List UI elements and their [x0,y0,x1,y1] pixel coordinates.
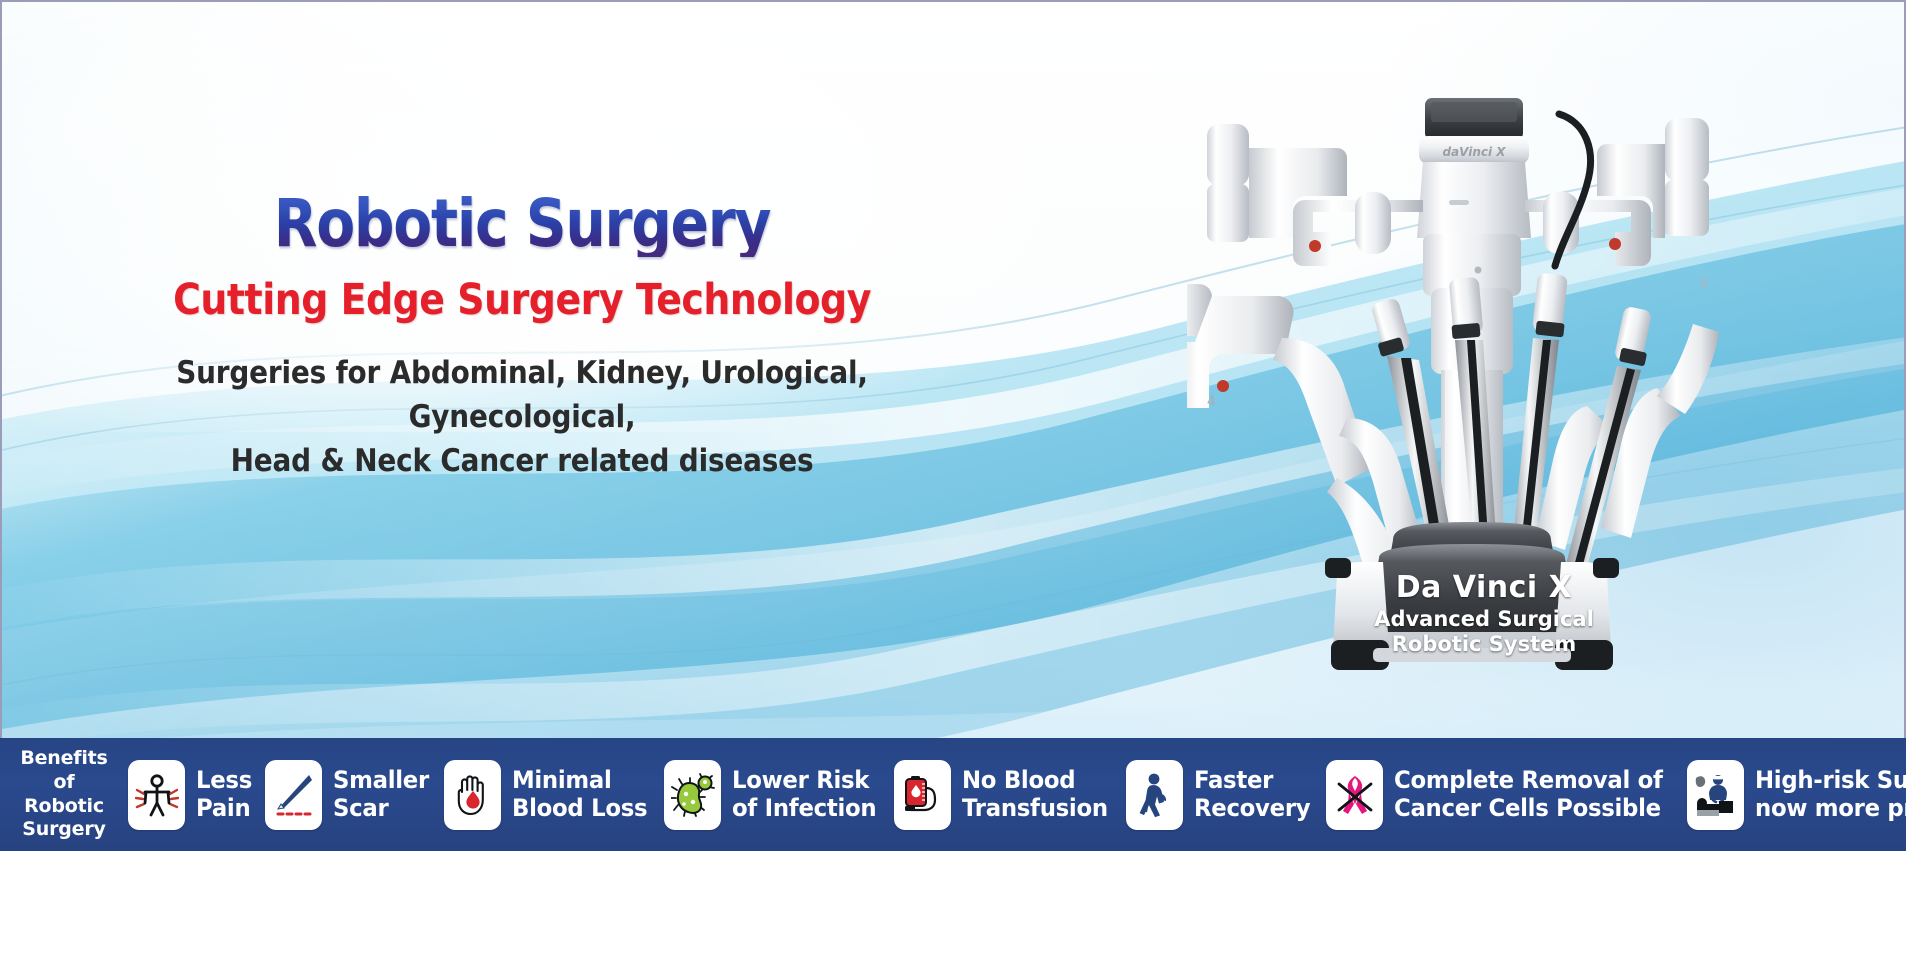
benefit-label: No Blood Transfusion [962,767,1108,822]
blood-bag-icon [901,772,945,818]
description-line-2: Head & Neck Cancer related diseases [153,439,891,483]
benefits-title-line-1: Benefits of [20,747,107,793]
benefit-item-less-pain[interactable]: Less Pain [128,760,255,830]
benefit-label: Smaller Scar [333,767,429,822]
benefit-label: Minimal Blood Loss [512,767,647,822]
benefit-label-line-1: Minimal [512,766,612,794]
benefits-bar: Benefits of Robotic Surgery [0,738,1906,851]
benefit-tile [1126,760,1183,830]
benefit-tile [894,760,951,830]
benefit-item-smaller-scar[interactable]: Smaller Scar [265,760,434,830]
person-pain-icon [135,772,179,818]
benefit-label: Complete Removal of Cancer Cells Possibl… [1394,767,1663,822]
benefit-label-line-2: Cancer Cells Possible [1394,795,1663,822]
benefit-tile [664,760,721,830]
benefit-item-lower-risk-infection[interactable]: Lower Risk of Infection [664,760,884,830]
benefit-label-line-2: Pain [196,795,252,822]
benefit-item-no-blood-transfusion[interactable]: No Blood Transfusion [894,760,1115,830]
headline-block: Robotic Surgery Cutting Edge Surgery Tec… [112,190,932,483]
benefit-label: Lower Risk of Infection [732,767,876,822]
benefit-item-minimal-blood-loss[interactable]: Minimal Blood Loss [444,760,654,830]
benefit-tile [265,760,322,830]
benefit-tile [1326,760,1383,830]
benefit-tile [128,760,185,830]
benefit-label-line-1: Complete Removal of [1394,766,1663,794]
surgeon-operating-icon [1693,772,1737,818]
benefit-label-line-2: Scar [333,795,429,822]
page-description: Surgeries for Abdominal, Kidney, Urologi… [153,351,891,483]
page-subtitle: Cutting Edge Surgery Technology [161,275,883,325]
svg-text:3: 3 [1699,276,1708,292]
da-vinci-robot-illustration: daVinci X [1187,88,1747,728]
description-line-1: Surgeries for Abdominal, Kidney, Urologi… [176,355,868,435]
benefit-tile [444,760,501,830]
benefit-item-high-risk-surgeries[interactable]: High-risk Surgeries now more precise [1687,760,1906,830]
benefits-bar-title: Benefits of Robotic Surgery [10,747,118,842]
benefit-item-faster-recovery[interactable]: Faster Recovery [1126,760,1316,830]
benefit-label-line-2: Blood Loss [512,795,647,822]
svg-text:daVinci X: daVinci X [1442,145,1506,159]
benefit-label-line-1: Less [196,766,252,794]
benefit-label: Faster Recovery [1194,767,1310,822]
svg-text:4: 4 [1207,394,1216,410]
benefits-title-line-2: Robotic [24,795,104,817]
benefit-label-line-2: Recovery [1194,795,1310,822]
benefit-tile [1687,760,1744,830]
benefit-label-line-1: No Blood [962,766,1075,794]
benefit-label-line-2: Transfusion [962,795,1108,822]
benefit-label-line-2: of Infection [732,795,876,822]
banner-frame: daVinci X [0,0,1906,851]
scalpel-icon [271,772,315,818]
page-bottom-whitespace [0,853,1906,968]
walking-person-icon [1132,772,1176,818]
benefit-label-line-1: Faster [1194,766,1273,794]
benefit-item-cancer-cells-removal[interactable]: Complete Removal of Cancer Cells Possibl… [1326,760,1677,830]
cancer-ribbon-crossed-icon [1333,772,1377,818]
page-title: Robotic Surgery [169,190,874,257]
benefit-label: Less Pain [196,767,252,822]
robotic-surgery-banner: daVinci X [0,0,1906,968]
benefit-label-line-1: High-risk Surgeries [1755,766,1906,794]
benefit-label-line-1: Smaller [333,766,429,794]
benefits-title-line-3: Surgery [22,818,105,840]
benefit-label-line-1: Lower Risk [732,766,869,794]
hand-blood-drop-icon [450,772,494,818]
benefit-label-line-2: now more precise [1755,795,1906,822]
germ-bacteria-icon [671,772,715,818]
benefit-label: High-risk Surgeries now more precise [1755,767,1906,822]
